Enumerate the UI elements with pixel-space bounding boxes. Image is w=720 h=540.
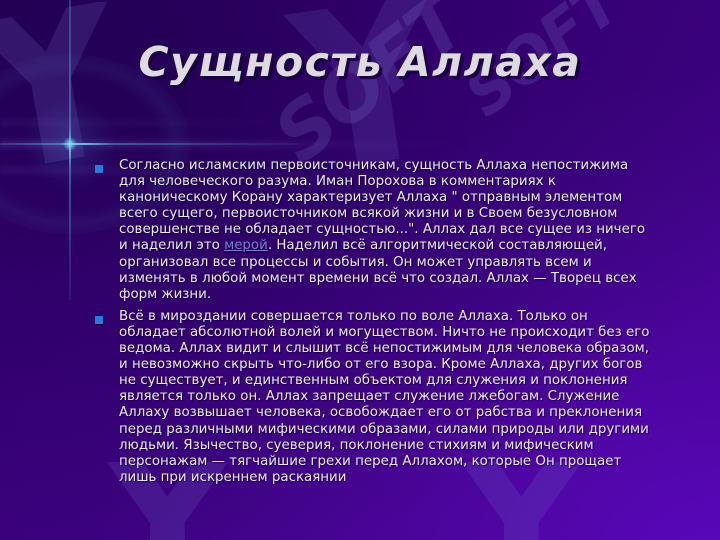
square-bullet-icon	[95, 316, 103, 324]
bullet-item: Согласно исламским первоисточникам, сущн…	[95, 158, 655, 303]
bullet-text: Всё в мироздании совершается только по в…	[119, 309, 649, 485]
slide-title-container: Сущность Аллаха	[0, 38, 720, 86]
bullet-paragraph: Всё в мироздании совершается только по в…	[119, 309, 655, 486]
lens-streak-upper	[0, 118, 300, 127]
lens-streak-mid	[0, 140, 470, 149]
slide-title: Сущность Аллаха	[139, 38, 582, 86]
slide-body: Согласно исламским первоисточникам, сущн…	[95, 158, 655, 492]
square-bullet-icon	[95, 165, 103, 173]
bullet-paragraph: Согласно исламским первоисточникам, сущн…	[119, 158, 655, 303]
bullet-item: Всё в мироздании совершается только по в…	[95, 309, 655, 486]
presentation-slide: SOFT SOFT Сущность Аллаха Согласно ислам…	[0, 0, 720, 540]
mera-link[interactable]: мерой	[224, 238, 268, 253]
